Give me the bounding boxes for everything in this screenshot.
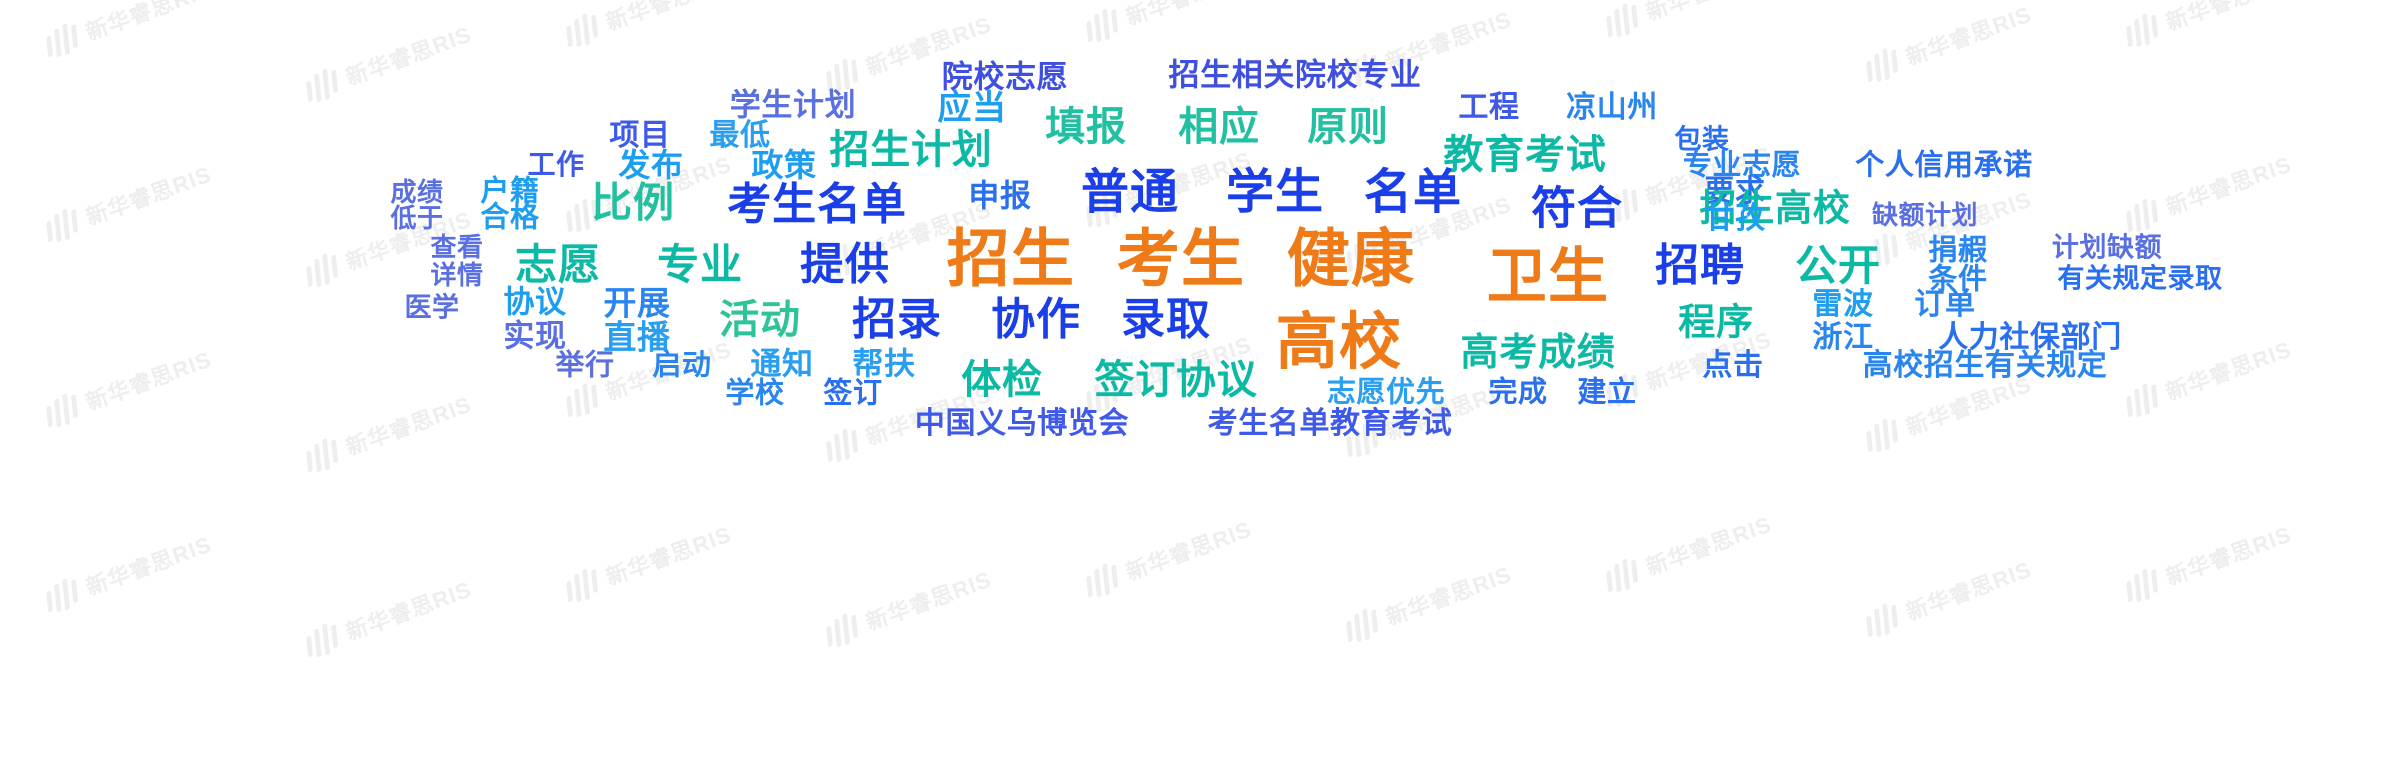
wordcloud-canvas: 新华睿思RIS新华睿思RIS新华睿思RIS新华睿思RIS新华睿思RIS新华睿思R… bbox=[0, 0, 2393, 759]
wordcloud-word[interactable]: 建立 bbox=[1577, 378, 1636, 407]
wordcloud-word[interactable]: 名单 bbox=[1364, 168, 1462, 216]
wordcloud-word[interactable]: 工程 bbox=[1458, 93, 1519, 123]
wordcloud-word[interactable]: 应当 bbox=[937, 91, 1006, 125]
wordcloud-word[interactable]: 中国义乌博览会 bbox=[915, 409, 1129, 439]
wordcloud-word[interactable]: 申报 bbox=[968, 182, 1031, 213]
wordcloud-word[interactable]: 公开 bbox=[1795, 245, 1881, 287]
wordcloud-word[interactable]: 缺额计划 bbox=[1872, 203, 1978, 229]
wordcloud-word[interactable]: 政策 bbox=[751, 149, 816, 181]
wordcloud-word[interactable]: 订单 bbox=[1914, 290, 1975, 320]
wordcloud-word[interactable]: 志愿优先 bbox=[1327, 378, 1445, 407]
wordcloud-word[interactable]: 体检 bbox=[961, 360, 1043, 400]
wordcloud-word[interactable]: 个人信用承诺 bbox=[1855, 151, 2032, 180]
wordcloud-word[interactable]: 考生 bbox=[1117, 228, 1246, 291]
wordcloud-word[interactable]: 详情 bbox=[430, 263, 483, 289]
wordcloud-word[interactable]: 学校 bbox=[725, 379, 784, 408]
wordcloud-word[interactable]: 完成 bbox=[1488, 378, 1547, 407]
wordcloud-word[interactable]: 学生 bbox=[1226, 168, 1324, 216]
wordcloud-word[interactable]: 协作 bbox=[991, 298, 1081, 342]
wordcloud-words-layer: 院校志愿招生相关院校专业学生计划应当工程凉山州填报相应原则项目最低招生计划包装教… bbox=[0, 0, 2393, 759]
wordcloud-word[interactable]: 举行 bbox=[555, 351, 614, 380]
wordcloud-word[interactable]: 合格 bbox=[480, 203, 539, 232]
wordcloud-word[interactable]: 招生 bbox=[947, 228, 1076, 291]
wordcloud-word[interactable]: 高校 bbox=[1276, 311, 1402, 373]
wordcloud-word[interactable]: 招生相关院校专业 bbox=[1169, 61, 1422, 92]
wordcloud-word[interactable]: 发布 bbox=[618, 149, 683, 181]
wordcloud-word[interactable]: 考生名单教育考试 bbox=[1208, 409, 1453, 439]
wordcloud-word[interactable]: 查看 bbox=[430, 235, 483, 261]
wordcloud-word[interactable]: 普通 bbox=[1081, 168, 1179, 216]
wordcloud-word[interactable]: 志愿 bbox=[515, 244, 601, 286]
wordcloud-word[interactable]: 高校招生有关规定 bbox=[1863, 351, 2108, 381]
wordcloud-word[interactable]: 教育考试 bbox=[1443, 135, 1606, 175]
wordcloud-word[interactable]: 医学 bbox=[404, 295, 459, 322]
wordcloud-word[interactable]: 签订 bbox=[823, 379, 882, 408]
wordcloud-word[interactable]: 提供 bbox=[800, 243, 890, 287]
wordcloud-word[interactable]: 程序 bbox=[1678, 304, 1753, 341]
wordcloud-word[interactable]: 成绩 bbox=[390, 180, 443, 206]
wordcloud-word[interactable]: 相应 bbox=[1178, 107, 1260, 147]
wordcloud-word[interactable]: 有关规定录取 bbox=[2057, 266, 2222, 293]
wordcloud-word[interactable]: 点击 bbox=[1702, 351, 1763, 381]
wordcloud-word[interactable]: 录取 bbox=[1121, 298, 1211, 342]
wordcloud-word[interactable]: 开展 bbox=[603, 287, 670, 320]
wordcloud-word[interactable]: 招录 bbox=[852, 298, 942, 342]
wordcloud-word[interactable]: 卫生 bbox=[1487, 247, 1609, 307]
wordcloud-word[interactable]: 高考成绩 bbox=[1460, 333, 1615, 371]
wordcloud-word[interactable]: 计划缺额 bbox=[2052, 235, 2162, 262]
wordcloud-word[interactable]: 签订协议 bbox=[1094, 360, 1257, 400]
wordcloud-word[interactable]: 招聘 bbox=[1655, 244, 1745, 288]
wordcloud-word[interactable]: 招生计划 bbox=[829, 130, 992, 170]
wordcloud-word[interactable]: 符合 bbox=[1531, 186, 1623, 231]
wordcloud-word[interactable]: 凉山州 bbox=[1566, 93, 1658, 123]
wordcloud-word[interactable]: 健康 bbox=[1287, 228, 1416, 291]
wordcloud-word[interactable]: 甘孜 bbox=[1704, 204, 1765, 234]
wordcloud-word[interactable]: 活动 bbox=[719, 300, 801, 340]
wordcloud-word[interactable]: 填报 bbox=[1045, 107, 1127, 147]
wordcloud-word[interactable]: 低于 bbox=[390, 206, 443, 232]
wordcloud-word[interactable]: 协议 bbox=[503, 288, 566, 319]
wordcloud-word[interactable]: 专业 bbox=[657, 244, 743, 286]
wordcloud-word[interactable]: 学生计划 bbox=[730, 91, 856, 122]
wordcloud-word[interactable]: 雷波 bbox=[1812, 290, 1873, 320]
wordcloud-word[interactable]: 比例 bbox=[591, 183, 675, 224]
wordcloud-word[interactable]: 原则 bbox=[1307, 107, 1389, 147]
wordcloud-word[interactable]: 考生名单 bbox=[727, 183, 907, 227]
wordcloud-word[interactable]: 捐赮 bbox=[1928, 236, 1987, 265]
wordcloud-word[interactable]: 启动 bbox=[652, 351, 711, 380]
